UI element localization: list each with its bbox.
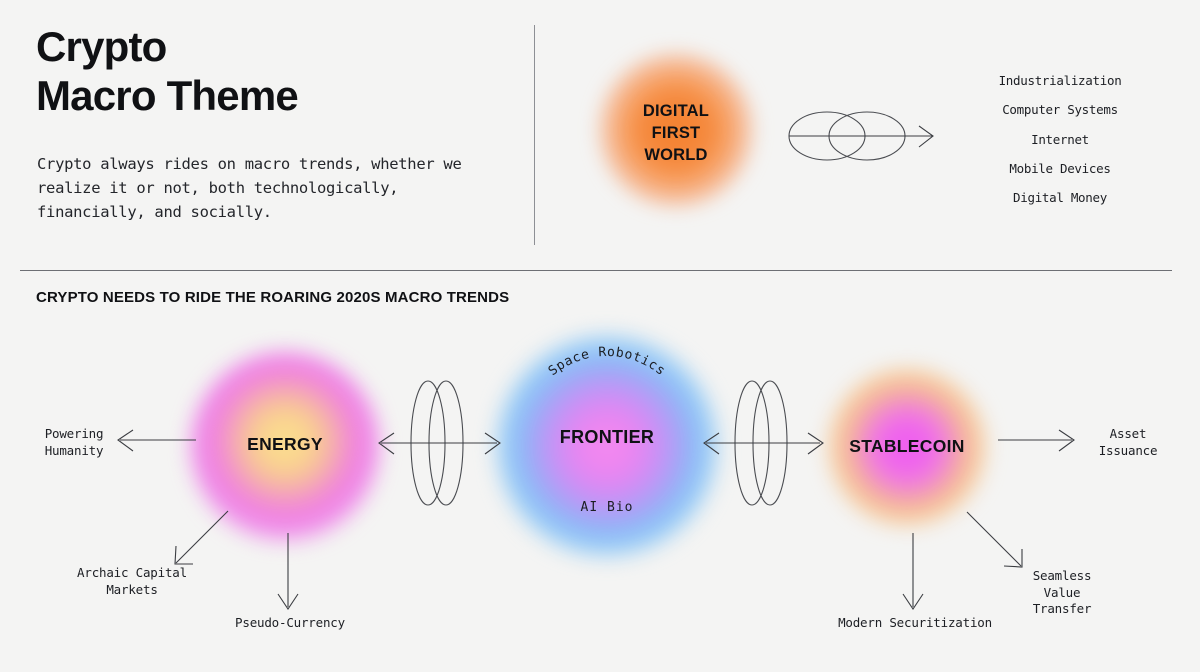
arrow-stablecoin-to-seamless-value-transfer <box>967 512 1022 567</box>
connector-energy-frontier <box>379 381 500 505</box>
list-item: Internet <box>960 125 1160 154</box>
label-line: Markets <box>52 582 212 599</box>
digital-label-line-2: FIRST <box>598 122 754 144</box>
label-powering-humanity: Powering Humanity <box>14 426 134 459</box>
list-item: Industrialization <box>960 66 1160 95</box>
list-item: Mobile Devices <box>960 154 1160 183</box>
label-line: Value <box>1000 585 1124 602</box>
label-modern-securitization: Modern Securitization <box>820 615 1010 632</box>
label-line: Humanity <box>14 443 134 460</box>
section-heading: CRYPTO NEEDS TO RIDE THE ROARING 2020S M… <box>36 289 509 306</box>
label-line: Seamless <box>1000 568 1124 585</box>
arrow-stablecoin-to-asset-issuance <box>998 430 1074 451</box>
label-line: Transfer <box>1000 601 1124 618</box>
frontier-label: FRONTIER <box>497 427 717 448</box>
digital-label-line-1: DIGITAL <box>598 100 754 122</box>
digital-first-world-label: DIGITAL FIRST WORLD <box>598 100 754 166</box>
label-asset-issuance: Asset Issuance <box>1068 426 1188 459</box>
label-pseudo-currency: Pseudo-Currency <box>205 615 375 632</box>
page-title: Crypto Macro Theme <box>36 22 506 120</box>
label-line: Asset <box>1068 426 1188 443</box>
list-item: Digital Money <box>960 183 1160 212</box>
intro-paragraph: Crypto always rides on macro trends, whe… <box>37 152 467 224</box>
label-line: Issuance <box>1068 443 1188 460</box>
frontier-bottom-label: AI Bio <box>497 500 717 515</box>
horizontal-divider <box>20 270 1172 271</box>
label-line: Powering <box>14 426 134 443</box>
arrow-energy-to-pseudo-currency <box>278 533 298 609</box>
evolution-list: Industrialization Computer Systems Inter… <box>960 66 1160 212</box>
label-seamless-value-transfer: Seamless Value Transfer <box>1000 568 1124 618</box>
title-line-1: Crypto <box>36 22 506 71</box>
digital-label-line-3: WORLD <box>598 144 754 166</box>
energy-label: ENERGY <box>190 434 380 455</box>
frontier-arc-label: Space Robotics <box>546 345 668 379</box>
title-line-2: Macro Theme <box>36 71 506 120</box>
label-line: Archaic Capital <box>52 565 212 582</box>
arrow-stablecoin-to-modern-securitization <box>903 533 923 609</box>
arrow-energy-to-archaic-capital-markets <box>175 511 228 564</box>
digital-transition-icon <box>789 112 933 160</box>
list-item: Computer Systems <box>960 95 1160 124</box>
slide-canvas: Crypto Macro Theme Crypto always rides o… <box>0 0 1200 672</box>
stablecoin-label: STABLECOIN <box>806 436 1008 457</box>
vertical-divider <box>534 25 535 245</box>
label-archaic-capital-markets: Archaic Capital Markets <box>52 565 212 598</box>
